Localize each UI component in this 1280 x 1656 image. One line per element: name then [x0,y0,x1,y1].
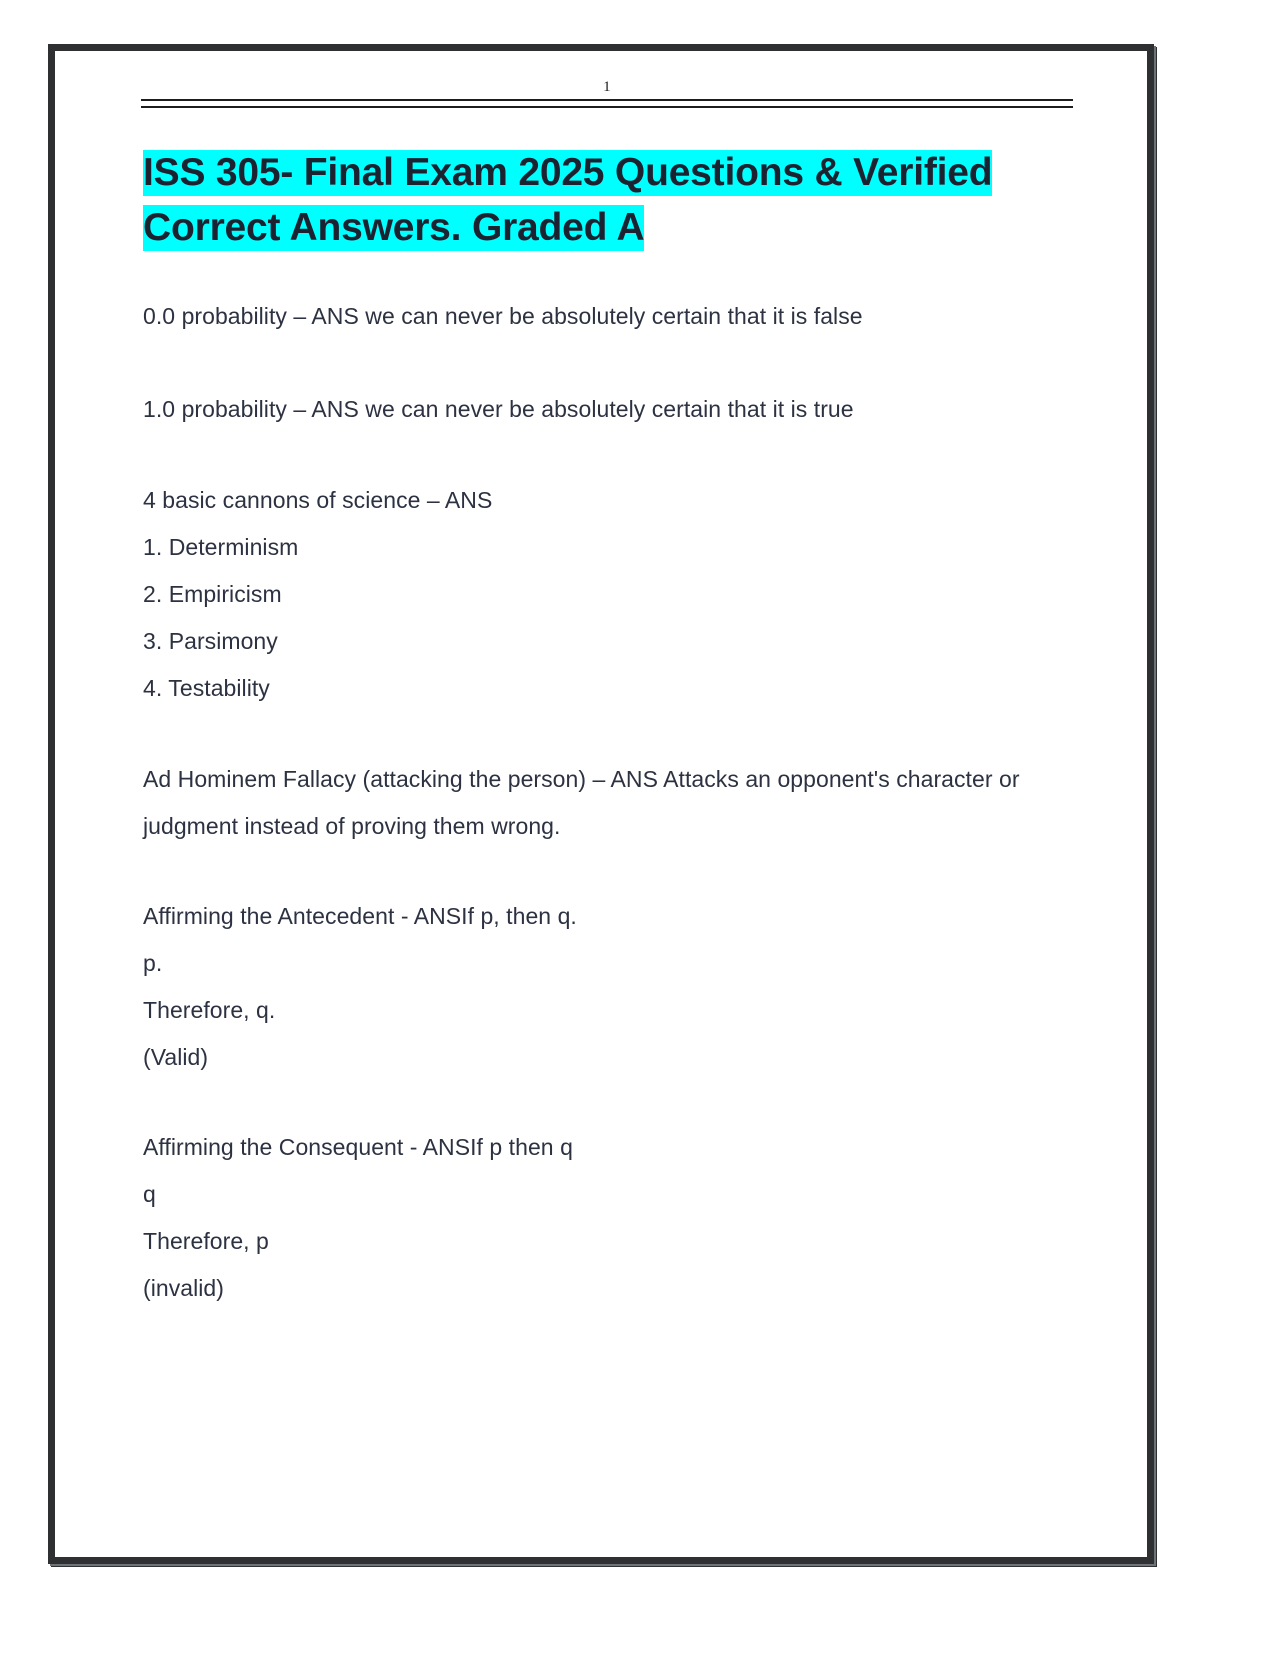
cannons-heading: 4 basic cannons of science – ANS [143,477,1073,524]
entry-affirming-consequent: Affirming the Consequent - ANSIf p then … [143,1124,1073,1312]
entry-zero-probability: 0.0 probability – ANS we can never be ab… [143,293,1073,340]
spacer [143,712,1073,756]
entry-ad-hominem: Ad Hominem Fallacy (attacking the person… [143,756,1073,850]
entry-zero-probability-text: 0.0 probability – ANS we can never be ab… [143,293,1053,340]
cannons-item: 2. Empiricism [143,571,1073,618]
affirming-consequent-line: Therefore, p [143,1218,1073,1265]
header-rule [141,99,1073,108]
entry-one-probability-text: 1.0 probability – ANS we can never be ab… [143,386,1053,433]
affirming-antecedent-heading: Affirming the Antecedent - ANSIf p, then… [143,893,1073,940]
entry-one-probability: 1.0 probability – ANS we can never be ab… [143,386,1073,433]
ad-hominem-text: Ad Hominem Fallacy (attacking the person… [143,756,1053,850]
document-page: 1 ISS 305- Final Exam 2025 Questions & V… [55,51,1147,1557]
affirming-consequent-line: q [143,1171,1073,1218]
affirming-antecedent-line: (Valid) [143,1034,1073,1081]
document-page-frame: 1 ISS 305- Final Exam 2025 Questions & V… [48,44,1154,1564]
spacer [143,340,1073,386]
spacer [143,1081,1073,1124]
affirming-consequent-heading: Affirming the Consequent - ANSIf p then … [143,1124,1073,1171]
page-header: 1 [141,79,1073,108]
cannons-item: 1. Determinism [143,524,1073,571]
spacer [143,850,1073,893]
page-title-highlight: ISS 305- Final Exam 2025 Questions & Ver… [143,150,992,251]
page-number: 1 [141,79,1073,96]
affirming-antecedent-line: p. [143,940,1073,987]
page-title: ISS 305- Final Exam 2025 Questions & Ver… [143,145,1028,255]
document-content: ISS 305- Final Exam 2025 Questions & Ver… [143,145,1073,1312]
spacer [143,433,1073,477]
affirming-antecedent-line: Therefore, q. [143,987,1073,1034]
entry-cannons-of-science: 4 basic cannons of science – ANS 1. Dete… [143,477,1073,712]
cannons-item: 3. Parsimony [143,618,1073,665]
entry-affirming-antecedent: Affirming the Antecedent - ANSIf p, then… [143,893,1073,1081]
affirming-consequent-line: (invalid) [143,1265,1073,1312]
spacer [143,255,1073,293]
cannons-item: 4. Testability [143,665,1073,712]
